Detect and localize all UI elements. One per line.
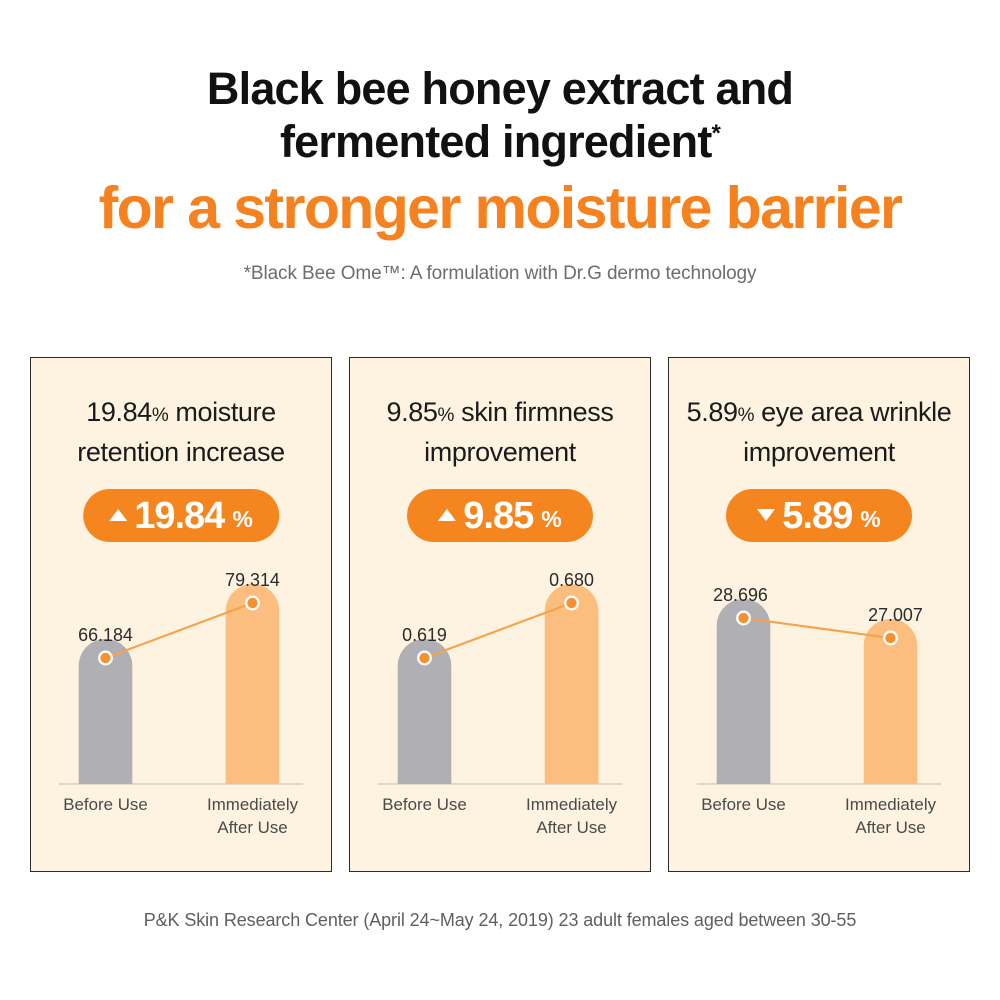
status-badge: 19.84 % [83,489,279,542]
bar-chart-svg: 66.184 79.314 Before Use Immediately Aft… [31,558,331,873]
bar-chart: 28.696 27.007 Before Use Immediately Aft… [669,558,969,873]
badge-value: 5.89 [782,497,852,535]
bar-after [226,584,280,784]
badge-value: 9.85 [463,497,533,535]
bar-chart: 0.619 0.680 Before Use Immediately After… [350,558,650,873]
value-label-before: 28.696 [713,585,768,605]
value-label-after: 79.314 [225,570,280,590]
triangle-up-icon [109,509,127,521]
page-title-text-1: Black bee honey extract and [207,63,793,114]
header: Black bee honey extract and fermented in… [0,62,1000,286]
triangle-up-icon [438,509,456,521]
bar-chart: 66.184 79.314 Before Use Immediately Aft… [31,558,331,873]
panel-title-percent: % [152,405,169,426]
panel-title: 5.89% eye area wrinkle improvement [679,394,959,470]
bar-chart-svg: 28.696 27.007 Before Use Immediately Aft… [669,558,969,873]
category-label-after-line1: Immediately [207,795,299,814]
marker-after [566,598,576,608]
triangle-down-icon [757,509,775,521]
panel-title-percent: % [738,405,755,426]
value-label-before: 0.619 [402,625,447,645]
stat-panel-eye-wrinkle: 5.89% eye area wrinkle improvement 5.89 … [668,357,970,872]
stat-panels: 19.84% moisture retention increase 19.84… [30,357,970,872]
stat-panel-moisture-retention: 19.84% moisture retention increase 19.84… [30,357,332,872]
bar-chart-svg: 0.619 0.680 Before Use Immediately After… [350,558,650,873]
status-badge: 9.85 % [407,489,593,542]
page-title-line-1: Black bee honey extract and [0,62,1000,115]
marker-before [738,613,748,623]
panel-title-value: 19.84 [86,397,152,427]
infographic-page: Black bee honey extract and fermented in… [0,0,1000,1000]
panel-title-percent: % [438,405,455,426]
badge-value: 19.84 [134,497,224,535]
category-label-before: Before Use [382,795,466,814]
value-label-before: 66.184 [78,625,133,645]
footer-note: P&K Skin Research Center (April 24~May 2… [0,910,1000,931]
category-label-before: Before Use [63,795,147,814]
page-subnote: *Black Bee Ome™: A formulation with Dr.G… [0,262,1000,286]
page-headline: for a stronger moisture barrier [0,176,1000,240]
bar-after [545,584,599,784]
value-label-after: 0.680 [549,570,594,590]
panel-title-value: 9.85 [387,397,438,427]
page-title-line-2: fermented ingredient* [0,115,1000,168]
badge-unit: % [541,508,561,531]
category-label-after-line2: After Use [855,818,925,837]
category-label-after-line2: After Use [217,818,287,837]
badge-unit: % [232,508,252,531]
marker-after [247,598,257,608]
title-superscript: * [712,120,721,147]
category-label-after-line2: After Use [536,818,606,837]
category-label-after-line1: Immediately [526,795,618,814]
stat-panel-skin-firmness: 9.85% skin firmness improvement 9.85 % 0 [349,357,651,872]
marker-before [100,653,110,663]
panel-title-value: 5.89 [687,397,738,427]
panel-title: 19.84% moisture retention increase [41,394,321,470]
status-badge: 5.89 % [726,489,912,542]
page-title-text-2: fermented ingredient [280,116,712,167]
marker-before [419,653,429,663]
marker-after [885,633,895,643]
value-label-after: 27.007 [868,605,923,625]
bar-before [717,599,771,784]
category-label-before: Before Use [701,795,785,814]
badge-unit: % [860,508,880,531]
panel-title: 9.85% skin firmness improvement [360,394,640,470]
panel-title-rest: eye area wrinkle improvement [743,397,951,467]
category-label-after-line1: Immediately [845,795,937,814]
